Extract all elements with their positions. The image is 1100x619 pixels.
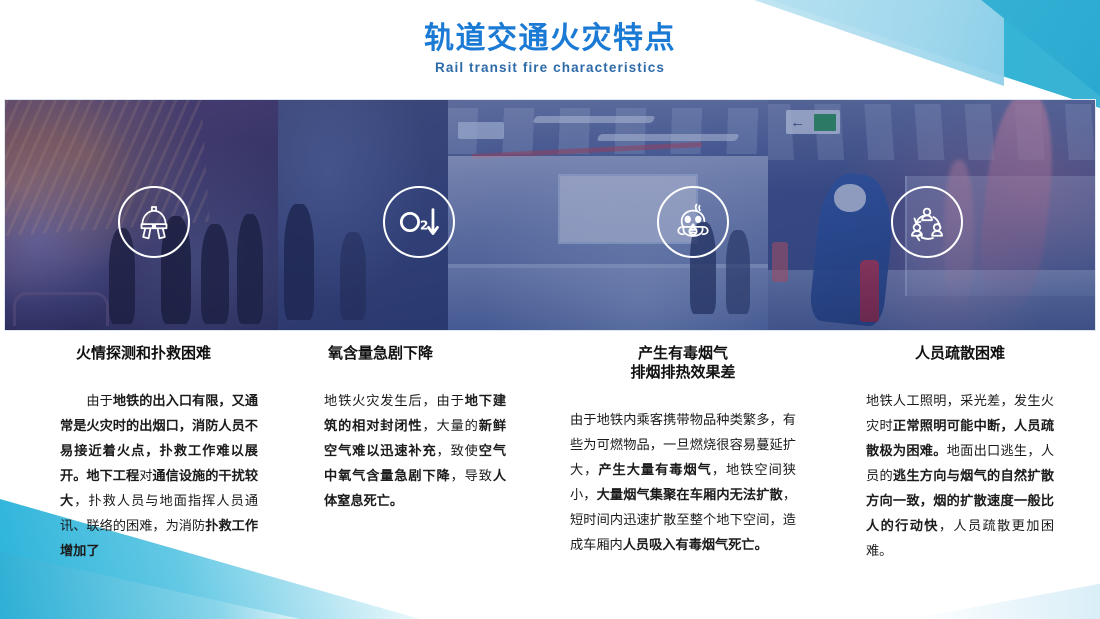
column-title: 产生有毒烟气排烟排热效果差	[570, 344, 796, 382]
column-title: 火情探测和扑救困难	[60, 344, 258, 363]
column-evacuation-difficulty: 人员疏散困难 地铁人工照明，采光差，发生火灾时正常照明可能中断，人员疏散极为困难…	[810, 344, 1100, 564]
crowd-evacuation-icon	[891, 186, 963, 258]
slide-root: 轨道交通火灾特点 Rail transit fire characteristi…	[0, 0, 1100, 619]
column-body: 由于地铁内乘客携带物品种类繁多，有些为可燃物品，一旦燃烧很容易蔓延扩大，产生大量…	[570, 408, 796, 558]
column-body: 地铁火灾发生后，由于地下建筑的相对封闭性，大量的新鲜空气难以迅速补充，致使空气中…	[324, 389, 506, 514]
page-subtitle: Rail transit fire characteristics	[0, 60, 1100, 75]
column-toxic-smoke: 产生有毒烟气排烟排热效果差 由于地铁内乘客携带物品种类繁多，有些为可燃物品，一旦…	[522, 344, 810, 564]
oxygen-down-icon: 2	[383, 186, 455, 258]
exit-sign: ←	[786, 110, 840, 134]
column-fire-detection: 火情探测和扑救困难 由于地铁的出入口有限，又通常是火灾时的出烟口，消防人员不易接…	[0, 344, 276, 564]
feature-columns: 火情探测和扑救困难 由于地铁的出入口有限，又通常是火灾时的出烟口，消防人员不易接…	[0, 344, 1100, 564]
column-title: 人员疏散困难	[866, 344, 1054, 363]
exit-sign-plate	[814, 114, 836, 131]
column-body: 地铁人工照明，采光差，发生火灾时正常照明可能中断，人员疏散极为困难。地面出口逃生…	[866, 389, 1054, 564]
column-title: 氧含量急剧下降	[324, 344, 506, 363]
fire-helmet-icon	[118, 186, 190, 258]
bottom-right-pale-shape	[910, 575, 1100, 619]
slide-header: 轨道交通火灾特点 Rail transit fire characteristi…	[0, 22, 1100, 75]
svg-text:2: 2	[420, 218, 429, 232]
exit-arrow-icon: ←	[790, 115, 805, 130]
column-oxygen-drop: 氧含量急剧下降 地铁火灾发生后，由于地下建筑的相对封闭性，大量的新鲜空气难以迅速…	[276, 344, 522, 564]
skull-gasmask-icon	[657, 186, 729, 258]
page-title: 轨道交通火灾特点	[0, 22, 1100, 56]
column-body: 由于地铁的出入口有限，又通常是火灾时的出烟口，消防人员不易接近着火点，扑救工作难…	[60, 389, 258, 564]
